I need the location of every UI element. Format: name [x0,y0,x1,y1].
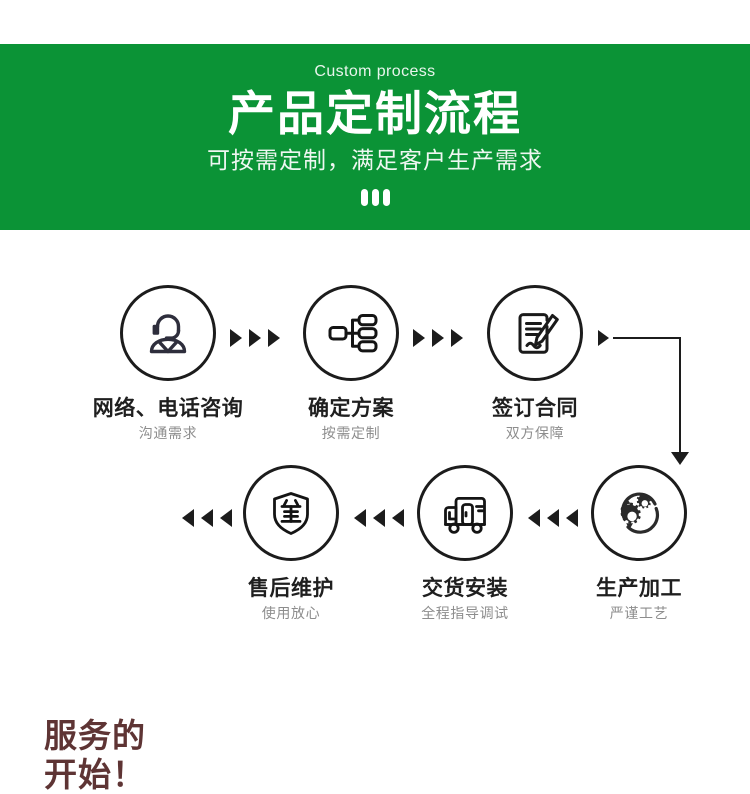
process-step-production[interactable]: 生产加工 严谨工艺 [559,465,719,622]
step-title: 交货安装 [385,561,545,600]
step-subtitle: 双方保障 [455,420,615,442]
service-start-line2: 开始！ [44,756,189,794]
process-step-consult[interactable]: 网络、电话咨询 沟通需求 [88,285,248,442]
divider-bar-2 [372,189,379,206]
triangle-right-icon [598,330,609,346]
banner-title: 产品定制流程 [0,81,750,142]
step-subtitle: 使用放心 [211,600,371,622]
step-title: 售后维护 [211,561,371,600]
truck-icon [417,465,513,561]
process-step-aftersales[interactable]: 售后维护 使用放心 [211,465,371,622]
flowchart-icon [303,285,399,381]
triangle-left-icon [547,509,559,527]
gears-cycle-icon [591,465,687,561]
triangle-left-icon [182,509,194,527]
step-subtitle: 全程指导调试 [385,600,545,622]
triangle-right-icon [230,329,242,347]
document-pen-icon [487,285,583,381]
step-title: 确定方案 [271,381,431,420]
process-step-plan[interactable]: 确定方案 按需定制 [271,285,431,442]
step-subtitle: 严谨工艺 [559,600,719,622]
service-start-line1: 服务的 [44,717,189,756]
triangle-left-icon [528,509,540,527]
triangle-right-icon [413,329,425,347]
headset-person-icon [120,285,216,381]
step-title: 签订合同 [455,381,615,420]
connector-vertical-line [679,337,681,454]
banner-eyebrow: Custom process [0,44,750,81]
divider-bar-1 [361,189,368,206]
triangle-left-icon [354,509,366,527]
step-subtitle: 按需定制 [271,420,431,442]
triangle-left-icon [373,509,385,527]
process-step-delivery[interactable]: 交货安装 全程指导调试 [385,465,545,622]
triangle-down-icon [671,452,689,465]
step-subtitle: 沟通需求 [88,420,248,442]
service-start-callout: 服务的 开始！ [44,717,189,794]
connector-horizontal-line [613,337,681,339]
triangle-right-icon [432,329,444,347]
shield-sale-icon [243,465,339,561]
banner-subtitle: 可按需定制，满足客户生产需求 [0,142,750,176]
triangle-right-icon [249,329,261,347]
process-step-contract[interactable]: 签订合同 双方保障 [455,285,615,442]
banner-divider-dots [353,176,397,206]
divider-bar-3 [383,189,390,206]
custom-process-banner: Custom process 产品定制流程 可按需定制，满足客户生产需求 [0,44,750,230]
step-title: 生产加工 [559,561,719,600]
step-title: 网络、电话咨询 [88,381,248,420]
process-flow-diagram: 网络、电话咨询 沟通需求 确定方案 按需定制 [0,230,750,665]
